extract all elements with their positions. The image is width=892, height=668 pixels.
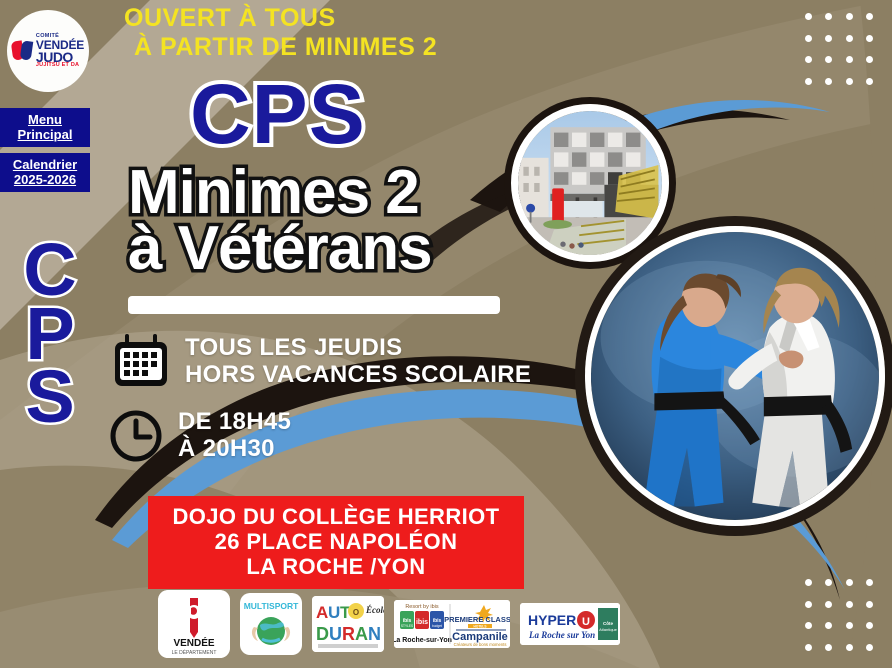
header-line2: À PARTIR DE MINIMES 2	[124, 33, 437, 62]
svg-text:STYLES: STYLES	[401, 624, 413, 628]
svg-text:HOTELS: HOTELS	[474, 625, 487, 629]
building-illustration	[518, 111, 662, 255]
dot	[805, 622, 812, 629]
menu-calendrier-button[interactable]: Calendrier 2025-2026	[0, 153, 90, 192]
address-box: DOJO DU COLLÈGE HERRIOT 26 PLACE NAPOLÉO…	[148, 496, 524, 589]
svg-text:U: U	[329, 624, 342, 644]
sponsor-vendee-departement: VENDÉE LE DÉPARTEMENT	[158, 590, 230, 658]
schedule-days-line1: TOUS LES JEUDIS	[185, 334, 531, 361]
dot	[866, 622, 873, 629]
clock-icon	[110, 410, 162, 462]
svg-text:Atlantique: Atlantique	[599, 627, 618, 632]
dot	[866, 35, 873, 42]
schedule-time-line1: DE 18H45	[178, 408, 291, 435]
svg-text:MULTISPORT: MULTISPORT	[244, 601, 299, 611]
dot-grid-bottom	[798, 572, 880, 658]
sponsor-logos: VENDÉE LE DÉPARTEMENT MULTISPORT A U T	[158, 590, 620, 658]
dot	[805, 13, 812, 20]
sponsor-multisport: MULTISPORT	[240, 593, 302, 655]
address-line3: LA ROCHE /YON	[154, 554, 518, 579]
svg-text:Côte: Côte	[603, 621, 613, 626]
svg-text:U: U	[328, 603, 340, 622]
dot	[805, 56, 812, 63]
calendar-icon	[113, 334, 169, 388]
dot	[805, 78, 812, 85]
svg-text:HYPER: HYPER	[528, 612, 576, 628]
dot	[846, 78, 853, 85]
sponsor-hyper-u: HYPER U La Roche sur Yon Côte Atlantique	[520, 603, 620, 645]
dot	[825, 622, 832, 629]
ibis-campanile-logo: Resort by ibis ibis STYLES ibis ibis bud…	[394, 600, 510, 648]
dot	[846, 56, 853, 63]
svg-text:LE DÉPARTEMENT: LE DÉPARTEMENT	[172, 649, 217, 656]
svg-text:VENDÉE: VENDÉE	[173, 636, 214, 649]
auto-ecole-durand-logo: A U T O École D U R A N	[312, 596, 384, 652]
svg-text:La Roche sur Yon: La Roche sur Yon	[528, 630, 595, 640]
header-line1: OUVERT À TOUS	[124, 4, 437, 33]
dot	[846, 579, 853, 586]
svg-text:budget: budget	[432, 624, 442, 628]
dot	[825, 601, 832, 608]
dot	[866, 78, 873, 85]
dot	[825, 56, 832, 63]
sponsor-ibis-campanile: Resort by ibis ibis STYLES ibis ibis bud…	[394, 600, 510, 648]
svg-text:La Roche-sur-Yon: La Roche-sur-Yon	[394, 637, 452, 644]
address-line1: DOJO DU COLLÈGE HERRIOT	[154, 504, 518, 529]
svg-text:A: A	[355, 624, 368, 644]
dot	[805, 35, 812, 42]
dot	[846, 622, 853, 629]
schedule-time-line2: À 20H30	[178, 435, 291, 462]
dot	[825, 78, 832, 85]
dot	[825, 35, 832, 42]
svg-text:N: N	[368, 624, 381, 644]
dot	[866, 579, 873, 586]
dot	[866, 13, 873, 20]
menu-calendrier-line1: Calendrier	[0, 157, 90, 172]
schedule-time-row: DE 18H45 À 20H30	[110, 408, 291, 462]
multisport-logo: MULTISPORT	[240, 593, 302, 655]
schedule-days-line2: HORS VACANCES SCOLAIRE	[185, 361, 531, 388]
svg-text:PREMIERE CLASSE: PREMIERE CLASSE	[444, 615, 510, 624]
dot	[846, 601, 853, 608]
heart-logo-icon	[12, 39, 34, 63]
address-line2: 26 PLACE NAPOLÉON	[154, 529, 518, 554]
menu-principal-button[interactable]: Menu Principal	[0, 108, 90, 147]
dot	[866, 56, 873, 63]
menu-principal-line1: Menu	[0, 112, 90, 127]
dot	[866, 644, 873, 651]
cps-vertical-letters: C P S	[14, 238, 86, 429]
svg-text:D: D	[316, 624, 329, 644]
poster-root: COMITÉ VENDÉE JUDO JUJITSU ET DA Menu Pr…	[0, 0, 892, 668]
header-banner: OUVERT À TOUS À PARTIR DE MINIMES 2	[124, 4, 437, 62]
judoka-illustration	[591, 232, 879, 520]
comite-vendee-judo-logo: COMITÉ VENDÉE JUDO JUJITSU ET DA	[7, 10, 89, 92]
menu-principal-line2: Principal	[0, 127, 90, 142]
svg-text:R: R	[342, 624, 355, 644]
dot	[846, 13, 853, 20]
dot	[866, 601, 873, 608]
subtitle-veterans: à Vétérans	[128, 218, 432, 280]
menu-calendrier-line2: 2025-2026	[0, 172, 90, 187]
svg-text:A: A	[316, 603, 328, 622]
title-divider-bar	[128, 296, 500, 314]
dot	[846, 644, 853, 651]
cps-letter-s: S	[25, 365, 74, 429]
college-herriot-photo	[511, 104, 669, 262]
svg-text:Resort by ibis: Resort by ibis	[405, 604, 439, 610]
dot	[825, 13, 832, 20]
dot	[805, 644, 812, 651]
dot	[805, 601, 812, 608]
sponsor-auto-ecole-durand: A U T O École D U R A N	[312, 596, 384, 652]
logo-discipline-text: JUJITSU ET DA	[36, 63, 84, 69]
page-title: CPS	[190, 72, 366, 156]
dot-grid-top	[798, 6, 880, 92]
dot	[805, 579, 812, 586]
svg-text:Créateurs de bons moments: Créateurs de bons moments	[454, 642, 507, 647]
svg-text:O: O	[353, 608, 359, 617]
schedule-days-row: TOUS LES JEUDIS HORS VACANCES SCOLAIRE	[113, 334, 531, 388]
judoka-photo	[585, 226, 885, 526]
svg-text:U: U	[582, 616, 590, 628]
dot	[825, 644, 832, 651]
svg-text:École: École	[365, 605, 384, 615]
dot	[825, 579, 832, 586]
svg-text:ibis: ibis	[416, 619, 428, 626]
dot	[846, 35, 853, 42]
vendee-logo: VENDÉE LE DÉPARTEMENT	[158, 590, 230, 658]
hyper-u-logo: HYPER U La Roche sur Yon Côte Atlantique	[520, 603, 620, 645]
